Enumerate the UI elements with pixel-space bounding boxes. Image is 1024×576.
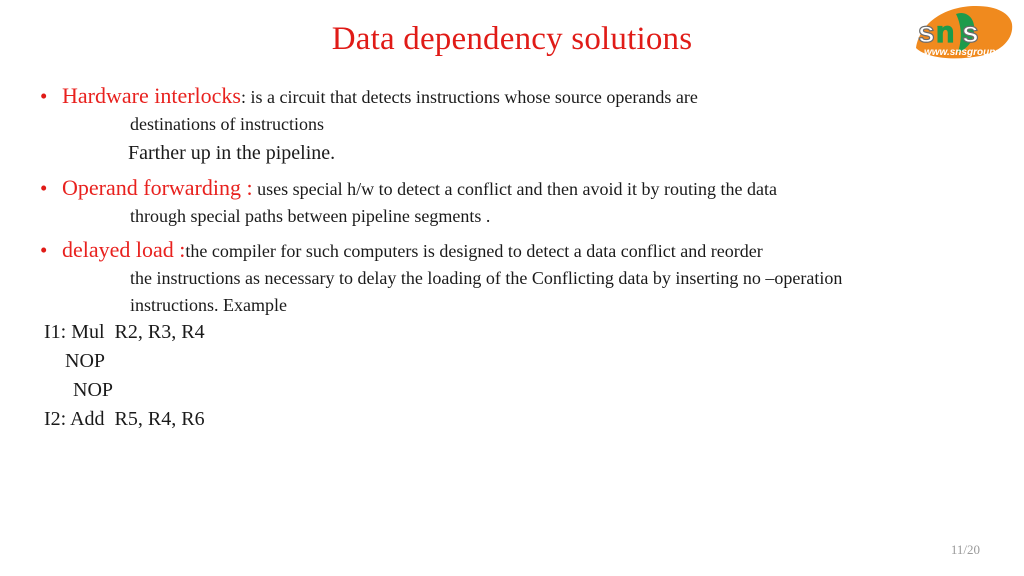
- bullet-item-hardware-interlocks: • Hardware interlocks: is a circuit that…: [0, 82, 1024, 168]
- presentation-slide: Data dependency solutions s n s TM www.s…: [0, 0, 1024, 576]
- bullet-continuation-line: the instructions as necessary to delay t…: [64, 265, 1024, 292]
- logo-trademark: TM: [1006, 9, 1016, 16]
- svg-text:s: s: [962, 16, 979, 49]
- code-line: I2: Add R5, R4, R6: [0, 405, 520, 434]
- code-line: I1: Mul R2, R3, R4: [0, 318, 520, 347]
- slide-body: • Hardware interlocks: is a circuit that…: [0, 82, 1024, 321]
- bullet-primary-line: delayed load :the compiler for such comp…: [64, 236, 1024, 265]
- code-listing: I1: Mul R2, R3, R4 NOP NOP I2: Add R5, R…: [0, 318, 520, 434]
- page-title: Data dependency solutions: [0, 20, 1024, 58]
- bullet-item-delayed-load: • delayed load :the compiler for such co…: [0, 236, 1024, 319]
- bullet-keyword: Operand forwarding :: [62, 175, 253, 200]
- svg-text:n: n: [936, 16, 954, 49]
- bullet-lead-text: is a circuit that detects instructions w…: [246, 87, 698, 107]
- sns-logo: s n s TM www.snsgroups.com: [906, 2, 1018, 64]
- logo-wordmark: s n s: [918, 16, 979, 49]
- bullet-extra-line: Farther up in the pipeline.: [64, 138, 1024, 168]
- bullet-continuation-line: instructions. Example: [64, 292, 1024, 319]
- logo-url: www.snsgroups.com: [924, 47, 1018, 58]
- bullet-primary-line: Hardware interlocks: is a circuit that d…: [64, 82, 1024, 111]
- page-number: 11/20: [951, 542, 980, 558]
- bullet-keyword: delayed load :: [62, 237, 185, 262]
- bullet-marker: •: [40, 236, 47, 264]
- code-line: NOP: [0, 376, 520, 405]
- bullet-continuation-line: through special paths between pipeline s…: [64, 203, 1024, 230]
- bullet-continuation-line: destinations of instructions: [64, 111, 1024, 138]
- bullet-lead-text: the compiler for such computers is desig…: [185, 241, 762, 261]
- bullet-lead-text: uses special h/w to detect a conflict an…: [253, 179, 777, 199]
- code-line: NOP: [0, 347, 520, 376]
- bullet-item-operand-forwarding: • Operand forwarding : uses special h/w …: [0, 174, 1024, 230]
- bullet-marker: •: [40, 174, 47, 202]
- svg-text:s: s: [918, 16, 935, 49]
- bullet-primary-line: Operand forwarding : uses special h/w to…: [64, 174, 1024, 203]
- bullet-marker: •: [40, 82, 47, 110]
- bullet-keyword: Hardware interlocks: [62, 83, 241, 108]
